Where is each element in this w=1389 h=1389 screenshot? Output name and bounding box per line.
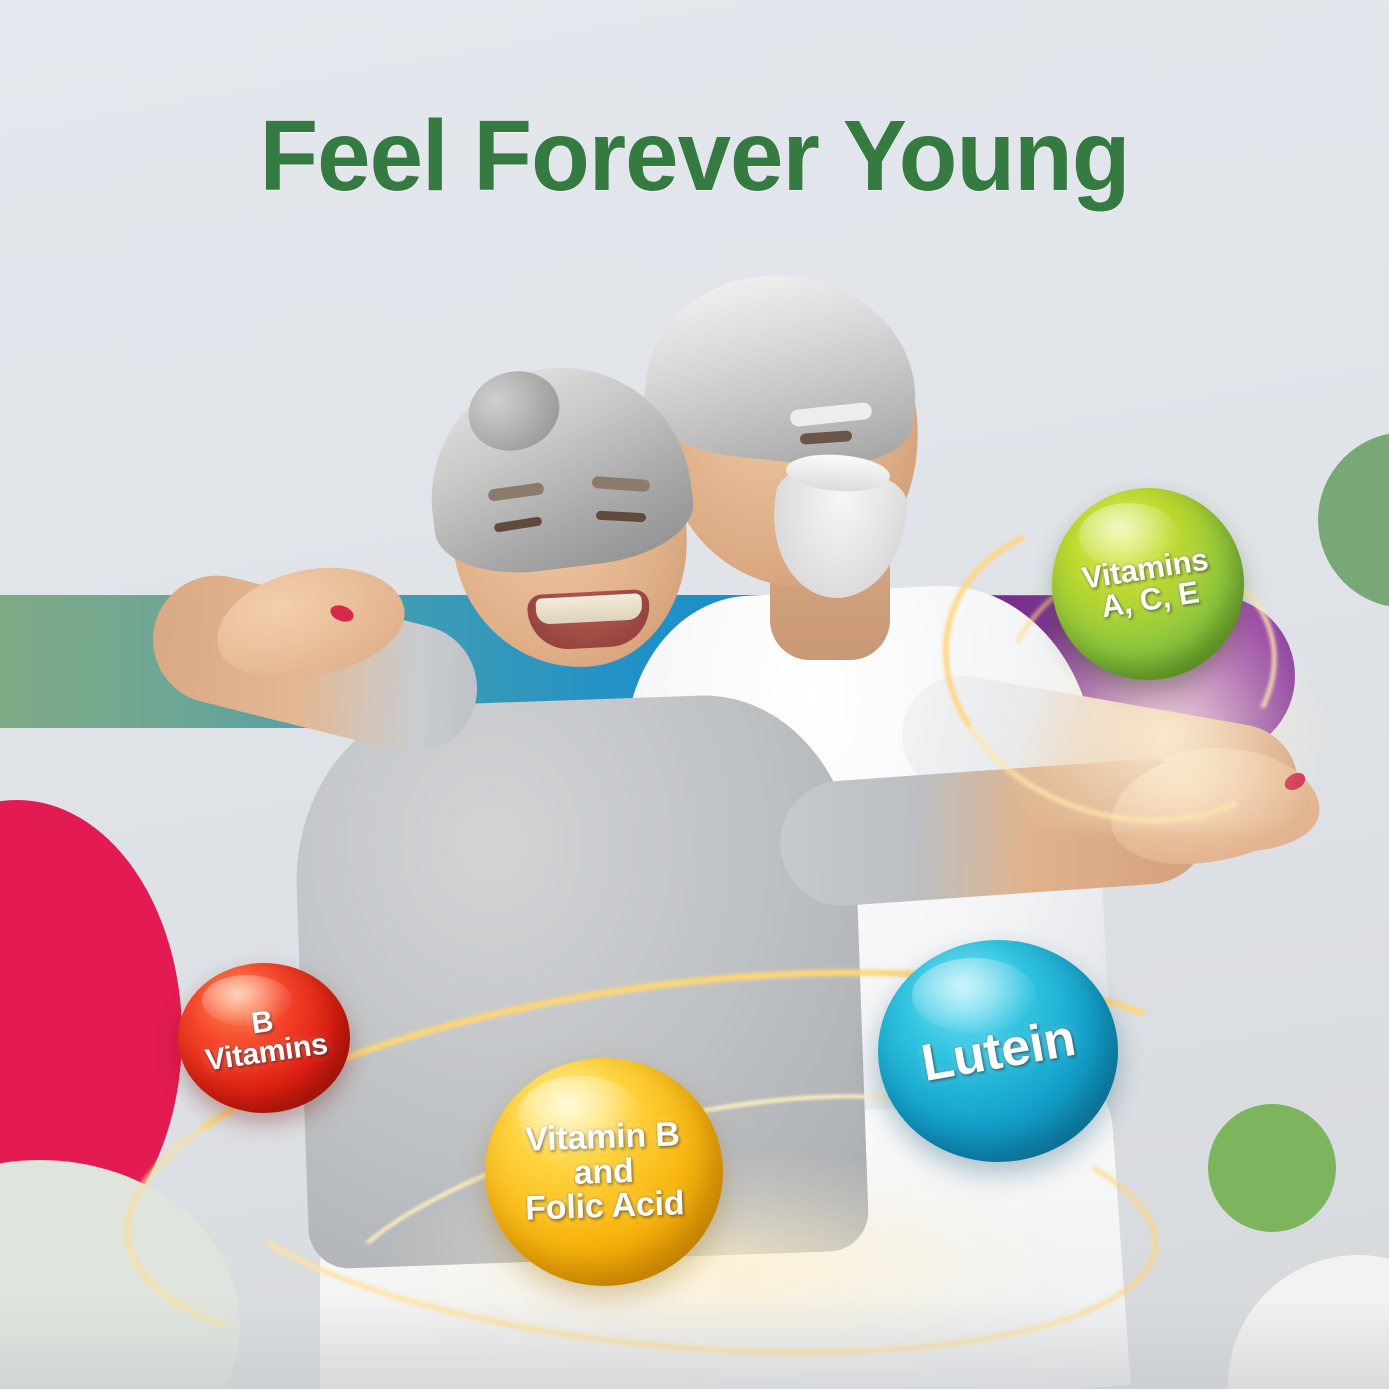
bubble-vitamin-b-folic-acid: Vitamin B and Folic Acid [485,1058,723,1286]
decorative-circle-green-bottom [1208,1104,1336,1232]
bubble-lutein-label: Lutein [917,1012,1078,1090]
bubble-vitamins-ace-label: Vitamins A, C, E [1080,543,1215,624]
bubble-lutein: Lutein [878,940,1118,1162]
woman-teeth [535,593,642,625]
bubble-vitamins-ace: Vitamins A, C, E [1052,488,1244,680]
bubble-vitamin-b-folic-acid-label: Vitamin B and Folic Acid [523,1117,686,1227]
promotional-banner: Vitamins A, C, E B Vitamins Vitamin B an… [0,0,1389,1389]
page-title: Feel Forever Young [28,106,1361,206]
bubble-b-vitamins-label: B Vitamins [199,1000,329,1077]
bubble-b-vitamins: B Vitamins [178,963,350,1113]
